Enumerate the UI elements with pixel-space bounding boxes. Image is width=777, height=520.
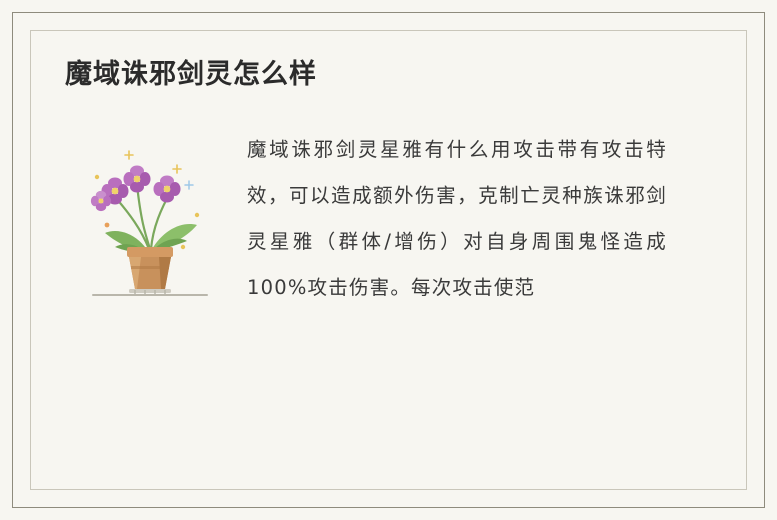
sparkle-icon — [185, 181, 193, 189]
flower-pot — [127, 247, 173, 289]
document-content: 魔域诛邪剑灵怎么样 — [31, 31, 746, 489]
article-body: 魔域诛邪剑灵星雅有什么用攻击带有攻击特效，可以造成额外伤害，克制亡灵种族诛邪剑灵… — [65, 125, 712, 311]
sparkle-dot-icon — [105, 223, 110, 228]
article-paragraph: 魔域诛邪剑灵星雅有什么用攻击带有攻击特效，可以造成额外伤害，克制亡灵种族诛邪剑灵… — [247, 125, 667, 311]
orchid-flower-icon — [91, 166, 181, 212]
page-title: 魔域诛邪剑灵怎么样 — [65, 59, 712, 91]
sparkle-dot-icon — [195, 213, 199, 217]
potted-orchid-plant-illustration — [71, 129, 221, 299]
document-page: 魔域诛邪剑灵怎么样 — [0, 0, 777, 520]
pot-base — [93, 289, 207, 295]
sparkle-dot-icon — [181, 245, 185, 249]
sparkle-dot-icon — [95, 175, 99, 179]
